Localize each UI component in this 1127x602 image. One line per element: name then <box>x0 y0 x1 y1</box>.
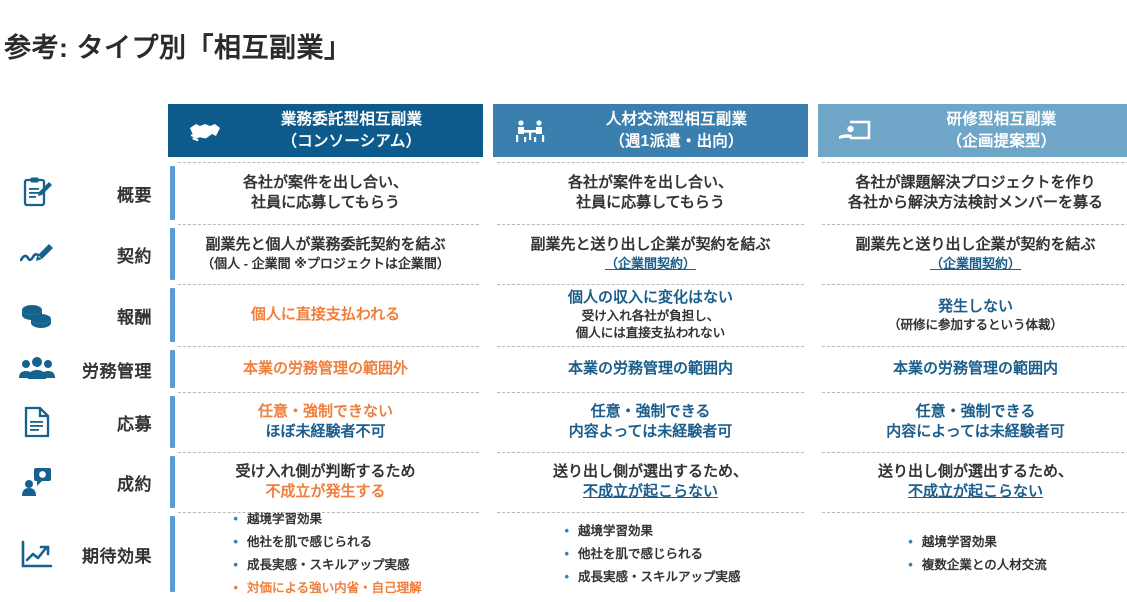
cell-成約-col2: 送り出し側が選出するため、不成立が起こらない <box>493 452 808 512</box>
bullet-dot-icon: • <box>233 581 238 594</box>
column-gap <box>808 512 818 596</box>
pen-signature-icon <box>14 241 60 267</box>
column-gap <box>483 104 493 162</box>
list-item-label: 複数企業との人材交流 <box>922 554 1047 577</box>
cell-line: 本業の労務管理の範囲内 <box>568 359 733 379</box>
list-item-label: 越境学習効果 <box>247 508 322 531</box>
cell-line: 不成立が発生する <box>265 482 385 502</box>
cell-line: 送り出し側が選出するため、 <box>878 462 1073 482</box>
cell-line: 送り出し側が選出するため、 <box>553 462 748 482</box>
list-item-label: 他社を肌で感じられる <box>578 543 703 566</box>
cell-期待効果-col2: •越境学習効果•他社を肌で感じられる•成長実感・スキルアップ実感 <box>493 512 808 596</box>
bullet-dot-icon: • <box>564 570 569 583</box>
people-group-icon <box>14 356 60 382</box>
bullet-dot-icon: • <box>233 535 238 548</box>
cell-line: 各社が案件を出し合い、 <box>243 173 408 193</box>
column-gap <box>808 224 818 284</box>
cell-期待効果-col3: •越境学習効果•複数企業との人材交流 <box>818 512 1127 596</box>
comparison-table: 業務委託型相互副業 （コンソーシアム） <box>0 104 1127 596</box>
cell-成約-col3: 送り出し側が選出するため、不成立が起こらない <box>818 452 1127 512</box>
row-label-text: 成約 <box>60 470 168 495</box>
cell-line: 発生しない <box>938 297 1013 317</box>
row-accent-bar <box>170 228 175 280</box>
table-row: 応募任意・強制できないほぼ未経験者不可任意・強制できる内容よっては未経験者可任意… <box>0 392 1127 452</box>
cell-line: 各社が案件を出し合い、 <box>568 173 733 193</box>
row-label-労務管理: 労務管理 <box>0 346 168 392</box>
cell-line: ほぼ未経験者不可 <box>265 422 385 442</box>
column-gap <box>483 162 493 224</box>
cell-line: （企業間契約） <box>605 255 696 272</box>
bullet-list: •越境学習効果•複数企業との人材交流 <box>904 531 1046 577</box>
list-item: •越境学習効果 <box>233 508 421 531</box>
row-label-応募: 応募 <box>0 392 168 452</box>
cell-契約-col3: 副業先と送り出し企業が契約を結ぶ（企業間契約） <box>818 224 1127 284</box>
cell-期待効果-col1: •越境学習効果•他社を肌で感じられる•成長実感・スキルアップ実感•対価による強い… <box>168 512 483 596</box>
column-gap <box>483 512 493 596</box>
bullet-list: •越境学習効果•他社を肌で感じられる•成長実感・スキルアップ実感•対価による強い… <box>229 508 421 600</box>
cell-line: （企業間契約） <box>930 255 1021 272</box>
list-item-label: 成長実感・スキルアップ実感 <box>247 554 410 577</box>
bullet-dot-icon: • <box>564 524 569 537</box>
cell-応募-col2: 任意・強制できる内容よっては未経験者可 <box>493 392 808 452</box>
column-header-3-label: 研修型相互副業 （企画提案型） <box>878 109 1127 153</box>
list-item-label: 成長実感・スキルアップ実感 <box>578 566 741 589</box>
cell-契約-col2: 副業先と送り出し企業が契約を結ぶ（企業間契約） <box>493 224 808 284</box>
row-label-text: 契約 <box>60 242 168 267</box>
cell-報酬-col3: 発生しない（研修に参加するという体裁） <box>818 284 1127 346</box>
meeting-table-icon <box>507 112 553 150</box>
table-body: 概要各社が案件を出し合い、社員に応募してもらう各社が案件を出し合い、社員に応募し… <box>0 162 1127 596</box>
page-title: 参考: タイプ別「相互副業」 <box>4 26 352 65</box>
column-gap <box>483 224 493 284</box>
column-gap <box>808 284 818 346</box>
cell-成約-col1: 受け入れ側が判断するため不成立が発生する <box>168 452 483 512</box>
cell-line: 個人には直接支払われない <box>576 325 725 342</box>
cell-line: 受け入れ各社が負担し、 <box>582 308 720 325</box>
table-row: 契約副業先と個人が業務委託契約を結ぶ（個人 - 企業間 ※プロジェクトは企業間）… <box>0 224 1127 284</box>
row-label-text: 労務管理 <box>60 357 168 382</box>
presentation-board-icon <box>832 112 878 150</box>
table-row: 概要各社が案件を出し合い、社員に応募してもらう各社が案件を出し合い、社員に応募し… <box>0 162 1127 224</box>
list-item-label: 他社を肌で感じられる <box>247 531 372 554</box>
column-gap <box>808 346 818 392</box>
list-item: •対価による強い内省・自己理解 <box>233 577 421 600</box>
cell-line: 任意・強制できない <box>258 402 393 422</box>
row-label-text: 応募 <box>60 410 168 435</box>
cell-line: 副業先と送り出し企業が契約を結ぶ <box>855 235 1095 255</box>
list-item: •成長実感・スキルアップ実感 <box>564 566 740 589</box>
column-gap <box>483 284 493 346</box>
cell-line: 個人の収入に変化はない <box>568 288 733 308</box>
row-label-報酬: 報酬 <box>0 284 168 346</box>
cell-報酬-col2: 個人の収入に変化はない受け入れ各社が負担し、個人には直接支払われない <box>493 284 808 346</box>
cell-line: 任意・強制できる <box>591 402 711 422</box>
cell-報酬-col1: 個人に直接支払われる <box>168 284 483 346</box>
bullet-dot-icon: • <box>908 535 913 548</box>
cell-line: 個人に直接支払われる <box>251 305 400 325</box>
row-label-text: 期待効果 <box>60 542 168 567</box>
row-accent-bar <box>170 456 175 508</box>
row-label-text: 報酬 <box>60 303 168 328</box>
coins-icon <box>14 301 60 329</box>
list-item: •他社を肌で感じられる <box>564 543 740 566</box>
cell-line: （研修に参加するという体裁） <box>888 317 1063 334</box>
cell-line: 受け入れ側が判断するため <box>235 462 415 482</box>
cell-契約-col1: 副業先と個人が業務委託契約を結ぶ（個人 - 企業間 ※プロジェクトは企業間） <box>168 224 483 284</box>
cell-line: 内容によっては未経験者可 <box>886 422 1065 442</box>
column-header-2-label: 人材交流型相互副業 （週1派遣・出向） <box>553 109 808 153</box>
column-header-2[interactable]: 人材交流型相互副業 （週1派遣・出向） <box>493 104 808 162</box>
cell-line: 任意・強制できる <box>916 402 1036 422</box>
cell-応募-col3: 任意・強制できる内容によっては未経験者可 <box>818 392 1127 452</box>
cell-line: （個人 - 企業間 ※プロジェクトは企業間） <box>201 255 450 272</box>
list-item: •他社を肌で感じられる <box>233 531 421 554</box>
table-header-row: 業務委託型相互副業 （コンソーシアム） <box>0 104 1127 162</box>
bullet-dot-icon: • <box>908 558 913 571</box>
row-accent-bar <box>170 350 175 388</box>
list-item: •越境学習効果 <box>564 520 740 543</box>
cell-line: 各社から解決方法検討メンバーを募る <box>848 193 1103 213</box>
row-label-期待効果: 期待効果 <box>0 512 168 596</box>
cell-概要-col2: 各社が案件を出し合い、社員に応募してもらう <box>493 162 808 224</box>
cell-労務管理-col1: 本業の労務管理の範囲外 <box>168 346 483 392</box>
column-header-3[interactable]: 研修型相互副業 （企画提案型） <box>818 104 1127 162</box>
row-accent-bar <box>170 396 175 448</box>
cell-line: 不成立が起こらない <box>908 482 1043 502</box>
row-accent-bar <box>170 288 175 342</box>
cell-line: 副業先と送り出し企業が契約を結ぶ <box>530 235 770 255</box>
row-accent-bar <box>170 166 175 220</box>
cell-line: 本業の労務管理の範囲内 <box>893 359 1058 379</box>
list-item-label: 越境学習効果 <box>578 520 653 543</box>
cell-line: 社員に応募してもらう <box>576 193 725 213</box>
table-row: 労務管理本業の労務管理の範囲外本業の労務管理の範囲内本業の労務管理の範囲内 <box>0 346 1127 392</box>
clipboard-pencil-icon <box>14 177 60 209</box>
row-label-成約: 成約 <box>0 452 168 512</box>
row-accent-bar <box>170 516 175 592</box>
list-item-label: 越境学習効果 <box>922 531 997 554</box>
cell-line: 不成立が起こらない <box>583 482 718 502</box>
bullet-dot-icon: • <box>233 558 238 571</box>
table-row: 成約受け入れ側が判断するため不成立が発生する送り出し側が選出するため、不成立が起… <box>0 452 1127 512</box>
cell-応募-col1: 任意・強制できないほぼ未経験者不可 <box>168 392 483 452</box>
document-icon <box>14 406 60 438</box>
column-gap <box>483 392 493 452</box>
column-gap <box>808 162 818 224</box>
list-item: •成長実感・スキルアップ実感 <box>233 554 421 577</box>
column-gap <box>808 104 818 162</box>
row-label-text: 概要 <box>60 181 168 206</box>
column-gap <box>483 452 493 512</box>
cell-概要-col1: 各社が案件を出し合い、社員に応募してもらう <box>168 162 483 224</box>
list-item: •越境学習効果 <box>908 531 1046 554</box>
column-gap <box>808 392 818 452</box>
cell-line: 内容よっては未経験者可 <box>569 422 733 442</box>
bullet-dot-icon: • <box>564 547 569 560</box>
table-row: 期待効果•越境学習効果•他社を肌で感じられる•成長実感・スキルアップ実感•対価に… <box>0 512 1127 596</box>
handshake-icon <box>182 112 228 150</box>
bullet-list: •越境学習効果•他社を肌で感じられる•成長実感・スキルアップ実感 <box>560 520 740 589</box>
column-gap <box>808 452 818 512</box>
cell-労務管理-col2: 本業の労務管理の範囲内 <box>493 346 808 392</box>
slide-root: 参考: タイプ別「相互副業」 業務委託型相互副業 （コンソーシアム） <box>0 0 1127 602</box>
cell-line: 本業の労務管理の範囲外 <box>243 359 408 379</box>
list-item-label: 対価による強い内省・自己理解 <box>247 577 422 600</box>
table-row: 報酬個人に直接支払われる個人の収入に変化はない受け入れ各社が負担し、個人には直接… <box>0 284 1127 346</box>
cell-line: 副業先と個人が業務委託契約を結ぶ <box>205 235 445 255</box>
column-header-1[interactable]: 業務委託型相互副業 （コンソーシアム） <box>168 104 483 162</box>
cell-line: 社員に応募してもらう <box>251 193 400 213</box>
person-speech-icon <box>14 467 60 497</box>
cell-概要-col3: 各社が課題解決プロジェクトを作り各社から解決方法検討メンバーを募る <box>818 162 1127 224</box>
header-corner-spacer <box>0 104 168 162</box>
bullet-dot-icon: • <box>233 512 238 525</box>
row-label-概要: 概要 <box>0 162 168 224</box>
row-label-契約: 契約 <box>0 224 168 284</box>
cell-line: 各社が課題解決プロジェクトを作り <box>855 173 1095 193</box>
cell-労務管理-col3: 本業の労務管理の範囲内 <box>818 346 1127 392</box>
list-item: •複数企業との人材交流 <box>908 554 1046 577</box>
growth-chart-icon <box>14 540 60 568</box>
column-gap <box>483 346 493 392</box>
column-header-1-label: 業務委託型相互副業 （コンソーシアム） <box>228 109 483 153</box>
